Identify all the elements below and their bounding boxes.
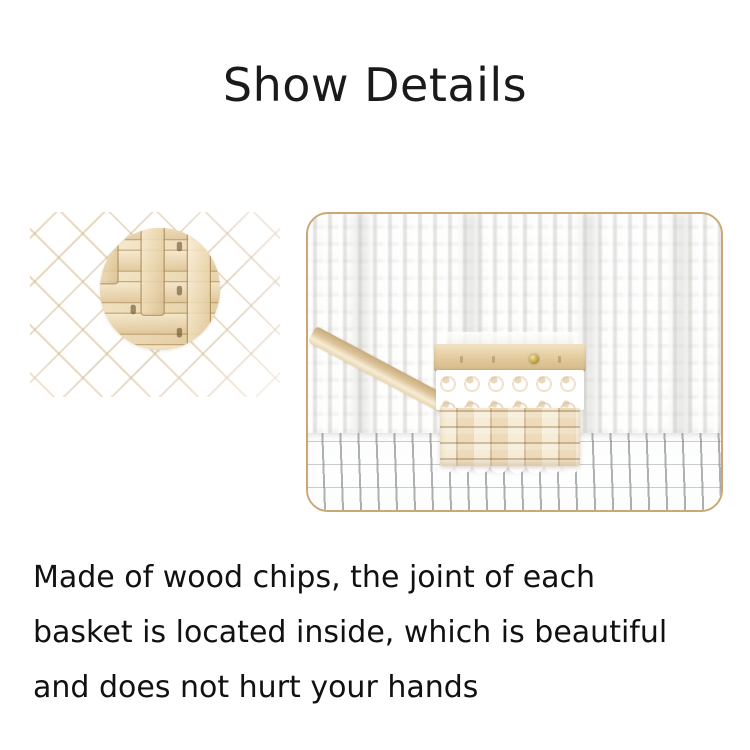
woven-wood-closeup-circle <box>100 228 220 350</box>
lace-trim <box>436 370 584 410</box>
description-line: basket is located inside, which is beaut… <box>33 605 723 660</box>
product-photo <box>306 212 723 512</box>
product-detail-page: Show Details <box>0 0 750 750</box>
weave-texture-icon <box>100 228 220 350</box>
description-text: Made of wood chips, the joint of each ba… <box>33 550 723 715</box>
lace-scallop-edge <box>436 465 584 477</box>
handle-rivet <box>529 354 539 364</box>
basket-rim <box>434 344 586 372</box>
rim-peg <box>558 356 561 363</box>
photo-inner <box>308 214 721 510</box>
wicker-basket <box>434 302 586 470</box>
description-line: Made of wood chips, the joint of each <box>33 550 723 605</box>
description-line: and does not hurt your hands <box>33 660 723 715</box>
page-title: Show Details <box>0 62 750 108</box>
basket-woven-body <box>440 408 580 466</box>
rim-peg <box>460 356 463 363</box>
closeup-detail-block <box>30 212 280 397</box>
rim-peg <box>492 356 495 363</box>
